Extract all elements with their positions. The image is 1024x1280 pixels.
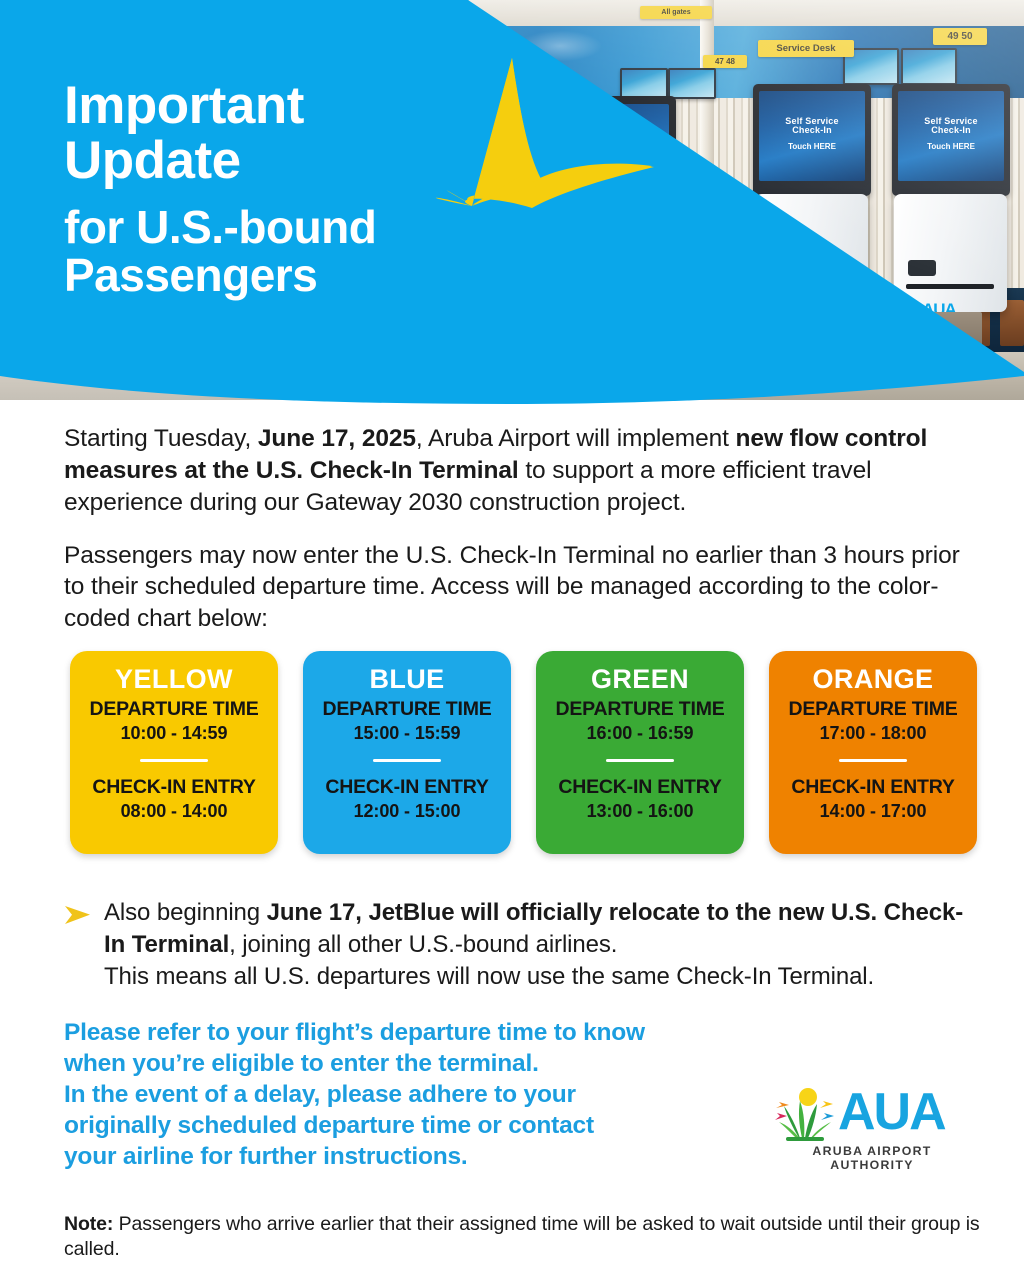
jetblue-bullet: Also beginning June 17, JetBlue will off… (64, 897, 969, 993)
title-line-1: Important (64, 78, 494, 133)
card-title: ORANGE (813, 665, 934, 695)
card-entry-time: 14:00 - 17:00 (820, 801, 927, 822)
notice-line-4: originally scheduled departure time or c… (64, 1112, 594, 1139)
footnote-label: Note: (64, 1213, 113, 1235)
color-card-yellow: YELLOW DEPARTURE TIME 10:00 - 14:59 CHEC… (70, 651, 278, 854)
card-entry-time: 08:00 - 14:00 (121, 801, 228, 822)
bullet-seg1: Also beginning (104, 899, 267, 926)
aua-wordmark: AUA (838, 1086, 945, 1138)
card-entry-label: CHECK-IN ENTRY (558, 776, 721, 799)
footnote-text: Passengers who arrive earlier that their… (64, 1213, 980, 1260)
aua-emblem-icon (774, 1082, 838, 1144)
card-divider (140, 759, 208, 762)
color-card-blue: BLUE DEPARTURE TIME 15:00 - 15:59 CHECK-… (303, 651, 511, 854)
bullet-seg2: , joining all other U.S.-bound airlines. (229, 931, 617, 958)
notice-line-1: Please refer to your flight’s departure … (64, 1019, 645, 1046)
card-departure-time: 16:00 - 16:59 (587, 723, 694, 744)
intro-paragraph: Starting Tuesday, June 17, 2025, Aruba A… (64, 410, 960, 519)
photo-service-desk-sign: Service Desk (758, 40, 854, 57)
card-title: YELLOW (115, 665, 233, 695)
title-line-2: Update (64, 133, 494, 188)
card-entry-time: 12:00 - 15:00 (354, 801, 461, 822)
card-title: BLUE (369, 665, 444, 695)
card-entry-label: CHECK-IN ENTRY (325, 776, 488, 799)
departure-time-notice: Please refer to your flight’s departure … (64, 1017, 754, 1173)
p1-bold1: June 17, 2025 (258, 425, 416, 452)
page-title: Important Update for U.S.-bound Passenge… (64, 78, 494, 299)
hero-banner: All gates Service Desk 47 48 49 50 45 46… (0, 0, 1024, 410)
photo-gate-sign: 45 46 (513, 65, 545, 76)
photo-monitor (901, 48, 957, 85)
access-paragraph: Passengers may now enter the U.S. Check-… (64, 519, 960, 636)
card-departure-time: 10:00 - 14:59 (121, 723, 228, 744)
card-departure-time: 17:00 - 18:00 (820, 723, 927, 744)
content-area: Starting Tuesday, June 17, 2025, Aruba A… (0, 410, 1024, 635)
card-divider (373, 759, 441, 762)
photo-gate-sign: 49 50 (933, 28, 987, 45)
notice-line-2: when you’re eligible to enter the termin… (64, 1050, 539, 1077)
card-divider (606, 759, 674, 762)
card-departure-label: DEPARTURE TIME (322, 698, 491, 721)
notice-line-3: In the event of a delay, please adhere t… (64, 1081, 576, 1108)
photo-monitor (620, 68, 668, 99)
card-divider (839, 759, 907, 762)
arrow-right-icon (64, 905, 91, 930)
aua-subtitle: ARUBA AIRPORT AUTHORITY (774, 1144, 970, 1172)
photo-gate-sign: All gates (640, 6, 712, 19)
card-departure-label: DEPARTURE TIME (555, 698, 724, 721)
bullet-line3: This means all U.S. departures will now … (104, 963, 874, 990)
title-line-4: Passengers (64, 251, 494, 299)
p1-seg2: , Aruba Airport will implement (416, 425, 736, 452)
card-departure-time: 15:00 - 15:59 (354, 723, 461, 744)
color-card-green: GREEN DEPARTURE TIME 16:00 - 16:59 CHECK… (536, 651, 744, 854)
poster-root: All gates Service Desk 47 48 49 50 45 46… (0, 0, 1024, 1280)
color-card-orange: ORANGE DEPARTURE TIME 17:00 - 18:00 CHEC… (769, 651, 977, 854)
photo-gate-sign: 47 48 (703, 55, 747, 68)
footnote: Note: Passengers who arrive earlier that… (64, 1212, 984, 1263)
jetblue-bullet-text: Also beginning June 17, JetBlue will off… (104, 897, 969, 993)
card-title: GREEN (591, 665, 689, 695)
p1-seg1: Starting Tuesday, (64, 425, 258, 452)
aua-logo: AUA ARUBA AIRPORT AUTHORITY (772, 1080, 972, 1180)
card-entry-label: CHECK-IN ENTRY (791, 776, 954, 799)
card-entry-time: 13:00 - 16:00 (587, 801, 694, 822)
card-entry-label: CHECK-IN ENTRY (92, 776, 255, 799)
color-coded-chart: YELLOW DEPARTURE TIME 10:00 - 14:59 CHEC… (70, 651, 977, 854)
card-departure-label: DEPARTURE TIME (788, 698, 957, 721)
photo-monitor (668, 68, 716, 99)
photo-column (700, 0, 714, 300)
notice-line-5: your airline for further instructions. (64, 1143, 468, 1170)
photo-floor (0, 352, 1024, 400)
title-line-3: for U.S.-bound (64, 203, 494, 251)
card-departure-label: DEPARTURE TIME (89, 698, 258, 721)
